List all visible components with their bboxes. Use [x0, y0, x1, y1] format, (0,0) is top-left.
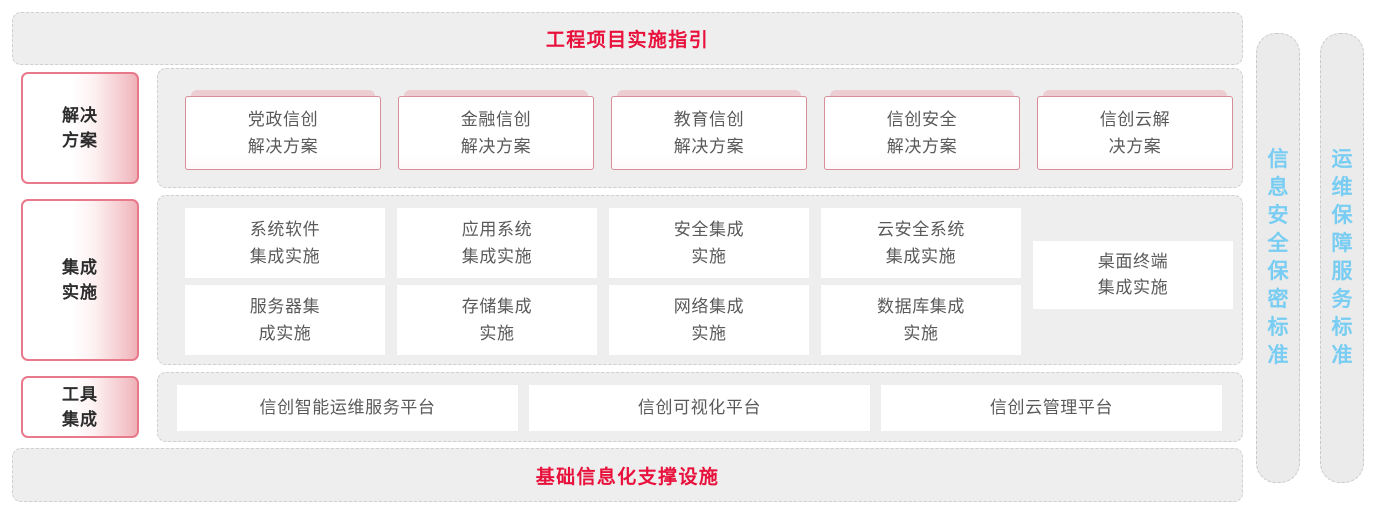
integration-card[interactable]: 存储集成实施	[397, 285, 597, 355]
bottom-banner-label: 基础信息化支撑设施	[536, 462, 720, 489]
diagram-canvas: 工程项目实施指引 解决方案 党政信创解决方案 金融信创解决方案	[0, 0, 1390, 515]
integration-card-label: 安全集成实施	[674, 216, 744, 270]
solution-card[interactable]: 金融信创解决方案	[398, 90, 594, 170]
card-body: 党政信创解决方案	[185, 96, 381, 170]
card-body: 金融信创解决方案	[398, 96, 594, 170]
tool-card[interactable]: 信创智能运维服务平台	[177, 385, 518, 431]
card-body: 教育信创解决方案	[611, 96, 807, 170]
integration-card-label: 桌面终端集成实施	[1098, 249, 1168, 301]
solution-card[interactable]: 信创安全解决方案	[824, 90, 1020, 170]
side-panel-ops-standard[interactable]: 运维保障服务标准	[1320, 33, 1364, 483]
integration-card[interactable]: 数据库集成实施	[821, 285, 1021, 355]
solution-card-label: 教育信创解决方案	[674, 106, 744, 160]
category-tab-solution[interactable]: 解决方案	[21, 72, 139, 184]
category-tab-integration-label: 集成实施	[62, 255, 98, 305]
content-band-solution: 党政信创解决方案 金融信创解决方案 教育信创解决方案 信创安全解决方案	[157, 68, 1243, 188]
tool-card[interactable]: 信创云管理平台	[881, 385, 1222, 431]
integration-card-label: 系统软件集成实施	[250, 216, 320, 270]
tool-card-label: 信创可视化平台	[638, 395, 761, 421]
top-banner: 工程项目实施指引	[12, 12, 1243, 65]
integration-card[interactable]: 服务器集成实施	[185, 285, 385, 355]
category-tab-solution-label: 解决方案	[62, 103, 98, 153]
content-band-integration: 系统软件集成实施 应用系统集成实施 安全集成实施 云安全系统集成实施 服务器集成…	[157, 195, 1243, 365]
content-band-tools: 信创智能运维服务平台 信创可视化平台 信创云管理平台	[157, 372, 1243, 442]
tool-card-label: 信创云管理平台	[990, 395, 1113, 421]
integration-card-label: 数据库集成实施	[877, 293, 965, 347]
category-tab-tools-label: 工具集成	[62, 382, 98, 432]
bottom-banner: 基础信息化支撑设施	[12, 448, 1243, 502]
integration-card[interactable]: 应用系统集成实施	[397, 208, 597, 278]
card-body: 信创安全解决方案	[824, 96, 1020, 170]
top-banner-label: 工程项目实施指引	[546, 25, 709, 52]
solution-card-label: 信创安全解决方案	[887, 106, 957, 160]
integration-card-label: 应用系统集成实施	[462, 216, 532, 270]
side-panel-label: 信息安全保密标准	[1266, 146, 1290, 370]
card-body: 信创云解决方案	[1037, 96, 1233, 170]
solution-card[interactable]: 党政信创解决方案	[185, 90, 381, 170]
category-tab-tools[interactable]: 工具集成	[21, 376, 139, 438]
integration-card[interactable]: 系统软件集成实施	[185, 208, 385, 278]
integration-card[interactable]: 云安全系统集成实施	[821, 208, 1021, 278]
side-panel-label: 运维保障服务标准	[1330, 146, 1354, 370]
tool-card[interactable]: 信创可视化平台	[529, 385, 870, 431]
integration-card-label: 服务器集成实施	[250, 293, 320, 347]
integration-card[interactable]: 安全集成实施	[609, 208, 809, 278]
solution-card[interactable]: 信创云解决方案	[1037, 90, 1233, 170]
integration-card-label: 网络集成实施	[674, 293, 744, 347]
integration-card[interactable]: 网络集成实施	[609, 285, 809, 355]
solution-card-label: 金融信创解决方案	[461, 106, 531, 160]
solution-card[interactable]: 教育信创解决方案	[611, 90, 807, 170]
integration-card-label: 云安全系统集成实施	[877, 216, 965, 270]
solution-card-label: 党政信创解决方案	[248, 106, 318, 160]
integration-card-label: 存储集成实施	[462, 293, 532, 347]
integration-card-desktop-terminal[interactable]: 桌面终端集成实施	[1033, 241, 1233, 309]
solution-card-label: 信创云解决方案	[1100, 106, 1170, 160]
side-panel-security-standard[interactable]: 信息安全保密标准	[1256, 33, 1300, 483]
tool-card-label: 信创智能运维服务平台	[260, 395, 436, 421]
category-tab-integration[interactable]: 集成实施	[21, 199, 139, 361]
